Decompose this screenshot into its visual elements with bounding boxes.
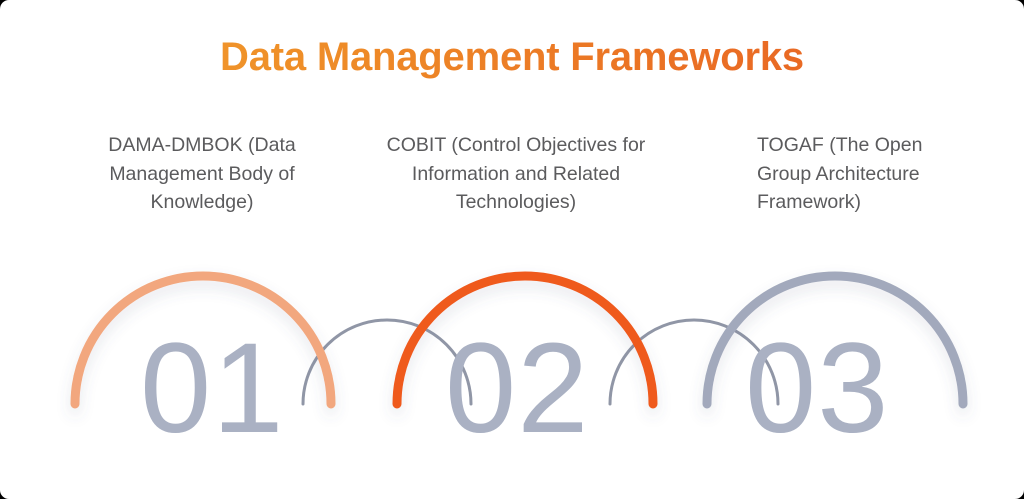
page-title: Data Management Frameworks: [0, 31, 1024, 83]
framework-label-02: COBIT (Control Objectives for Informatio…: [371, 131, 661, 217]
framework-label-03: TOGAF (The Open Group Architecture Frame…: [757, 131, 957, 217]
corner-mask-top-left: [0, 0, 18, 18]
framework-label-01: DAMA-DMBOK (Data Management Body of Know…: [73, 131, 331, 217]
infographic-canvas: Data Management Frameworks DAMA-DMBOK (D…: [0, 0, 1024, 499]
step-number-03: 03: [745, 325, 889, 453]
step-number-01: 01: [140, 325, 284, 453]
corner-mask-bottom-right: [1006, 481, 1024, 499]
corner-mask-top-right: [1006, 0, 1024, 18]
corner-mask-bottom-left: [0, 481, 18, 499]
step-number-02: 02: [445, 325, 589, 453]
